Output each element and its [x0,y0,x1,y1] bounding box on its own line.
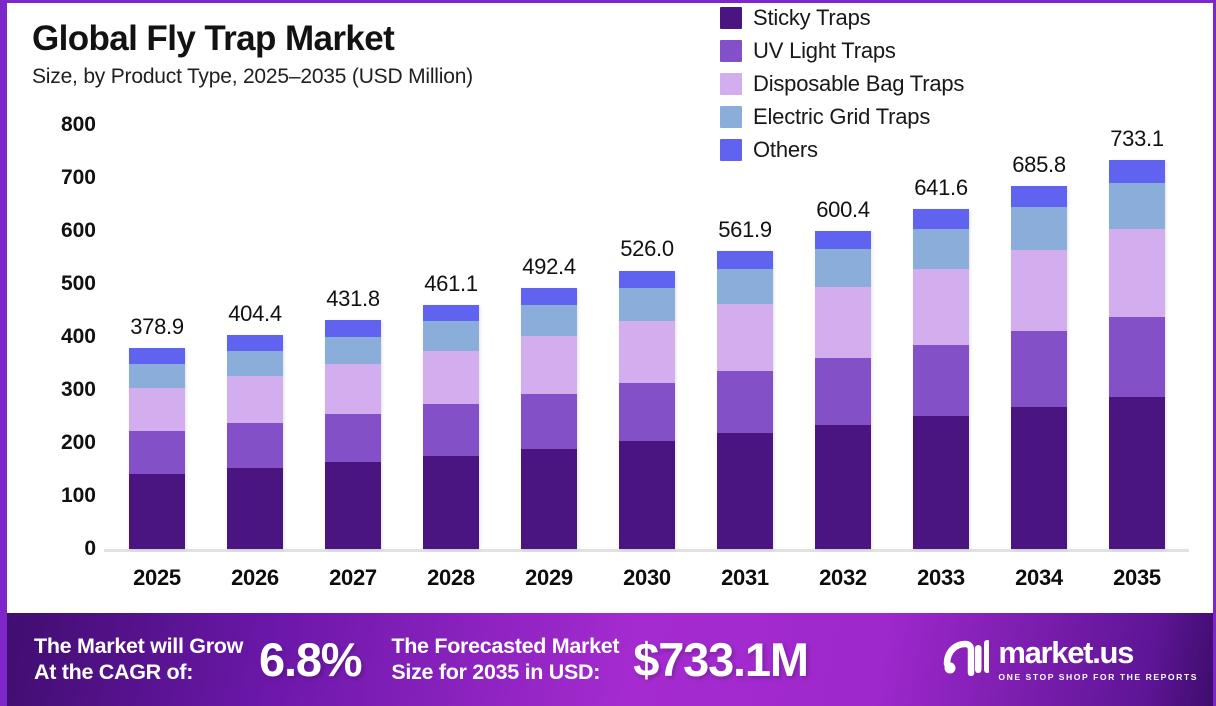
bar-segment[interactable] [129,474,185,549]
bar-segment[interactable] [423,305,479,322]
legend-item[interactable]: UV Light Traps [720,38,964,64]
bar-segment[interactable] [227,335,283,351]
cagr-label-line2: At the CAGR of: [34,660,243,685]
stacked-bar[interactable] [913,209,969,549]
bar-group[interactable]: 431.82027 [325,320,381,549]
bar-total-label: 641.6 [914,175,968,201]
logo-name: market.us [998,637,1133,668]
bar-series-container: 378.92025404.42026431.82027461.12028492.… [104,125,1202,549]
y-axis-tick-label: 100 [61,484,96,508]
bar-segment[interactable] [1011,186,1067,207]
forecast-label-line2: Size for 2035 in USD: [391,660,619,685]
bar-segment[interactable] [619,383,675,442]
forecast-value: $733.1M [633,632,808,687]
x-axis-tick-label: 2025 [133,565,181,591]
bar-group[interactable]: 600.42032 [815,231,871,549]
footer-banner-inner: The Market will Grow At the CAGR of: 6.8… [0,632,1216,687]
bar-group[interactable]: 641.62033 [913,209,969,549]
stacked-bar[interactable] [717,251,773,549]
bar-group[interactable]: 378.92025 [129,348,185,549]
bar-segment[interactable] [227,468,283,549]
y-axis-tick-label: 600 [61,219,96,243]
bar-group[interactable]: 461.12028 [423,305,479,549]
bar-segment[interactable] [325,364,381,414]
legend-swatch-icon [720,40,742,62]
bar-segment[interactable] [325,414,381,463]
bar-segment[interactable] [423,321,479,350]
legend-swatch-icon [720,7,742,29]
bar-segment[interactable] [325,462,381,549]
bar-segment[interactable] [1109,317,1165,398]
bar-segment[interactable] [423,456,479,549]
market-us-logo-text: market.us ONE STOP SHOP FOR THE REPORTS [998,637,1198,682]
bar-segment[interactable] [1109,183,1165,229]
bar-segment[interactable] [129,348,185,363]
bar-segment[interactable] [717,269,773,305]
bar-group[interactable]: 685.82034 [1011,186,1067,549]
logo-tagline: ONE STOP SHOP FOR THE REPORTS [998,672,1198,682]
bar-segment[interactable] [521,449,577,549]
bar-group[interactable]: 492.42029 [521,288,577,549]
stacked-bar[interactable] [1109,160,1165,549]
x-axis-tick-label: 2027 [329,565,377,591]
bar-segment[interactable] [1109,397,1165,549]
bar-group[interactable]: 526.02030 [619,271,675,549]
bar-segment[interactable] [129,364,185,388]
page-title: Global Fly Trap Market [32,21,473,58]
bar-segment[interactable] [913,269,969,345]
bar-segment[interactable] [227,376,283,422]
y-axis-tick-label: 200 [61,431,96,455]
infographic-page: Global Fly Trap Market Size, by Product … [0,0,1216,706]
x-axis-tick-label: 2031 [721,565,769,591]
bar-segment[interactable] [1011,331,1067,407]
legend-item[interactable]: Disposable Bag Traps [720,71,964,97]
chart-subtitle: Size, by Product Type, 2025–2035 (USD Mi… [32,65,473,89]
stacked-bar[interactable] [423,305,479,549]
bar-segment[interactable] [1011,407,1067,549]
x-axis-tick-label: 2029 [525,565,573,591]
stacked-bar[interactable] [619,271,675,549]
bar-total-label: 561.9 [718,217,772,243]
bar-group[interactable]: 404.42026 [227,335,283,549]
stacked-bar[interactable] [227,335,283,549]
stacked-bar[interactable] [325,320,381,549]
market-us-logo[interactable]: market.us ONE STOP SHOP FOR THE REPORTS [943,637,1198,682]
bar-total-label: 461.1 [424,271,478,297]
x-axis-tick-label: 2034 [1015,565,1063,591]
chart-plot-area: 0100200300400500600700800 378.92025404.4… [104,125,1202,549]
bar-segment[interactable] [619,441,675,549]
bar-segment[interactable] [423,351,479,405]
legend-item-label: Disposable Bag Traps [753,71,964,97]
legend-item[interactable]: Sticky Traps [720,5,964,31]
bar-total-label: 600.4 [816,197,870,223]
bar-segment[interactable] [619,288,675,321]
bar-segment[interactable] [913,416,969,549]
bar-total-label: 492.4 [522,254,576,280]
legend-item-label: Sticky Traps [753,5,870,31]
bar-segment[interactable] [619,321,675,383]
bar-segment[interactable] [913,209,969,229]
cagr-value: 6.8% [259,632,361,687]
bar-segment[interactable] [1011,207,1067,250]
y-axis-tick-label: 300 [61,378,96,402]
bar-segment[interactable] [717,433,773,549]
bar-segment[interactable] [325,337,381,364]
bar-segment[interactable] [129,388,185,431]
bar-segment[interactable] [129,431,185,474]
bar-segment[interactable] [913,229,969,270]
bar-segment[interactable] [717,371,773,434]
x-axis-tick-label: 2030 [623,565,671,591]
bar-total-label: 733.1 [1110,126,1164,152]
bar-total-label: 431.8 [326,286,380,312]
forecast-label-line1: The Forecasted Market [391,634,619,659]
bar-segment[interactable] [227,351,283,377]
forecast-label: The Forecasted Market Size for 2035 in U… [391,634,619,685]
cagr-label-line1: The Market will Grow [34,634,243,659]
x-axis-tick-label: 2032 [819,565,867,591]
x-axis-tick-label: 2028 [427,565,475,591]
x-axis-tick-label: 2033 [917,565,965,591]
cagr-label: The Market will Grow At the CAGR of: [34,634,243,685]
stacked-bar[interactable] [1011,186,1067,549]
stacked-bar[interactable] [129,348,185,549]
x-axis-tick-label: 2035 [1113,565,1161,591]
chart-header: Global Fly Trap Market Size, by Product … [32,21,473,89]
bar-segment[interactable] [1011,250,1067,332]
bar-total-label: 685.8 [1012,152,1066,178]
bar-group[interactable]: 733.12035 [1109,160,1165,549]
bar-segment[interactable] [1109,229,1165,316]
y-axis-tick-label: 500 [61,272,96,296]
bar-segment[interactable] [521,394,577,449]
y-axis-tick-label: 700 [61,166,96,190]
bar-segment[interactable] [619,271,675,288]
bar-segment[interactable] [1109,160,1165,182]
bar-total-label: 526.0 [620,236,674,262]
bar-segment[interactable] [815,358,871,425]
bar-segment[interactable] [815,231,871,249]
legend-swatch-icon [720,73,742,95]
bar-segment[interactable] [521,305,577,336]
bar-segment[interactable] [815,249,871,287]
footer-banner: The Market will Grow At the CAGR of: 6.8… [0,613,1216,706]
bar-segment[interactable] [815,287,871,358]
stacked-bar[interactable] [815,231,871,549]
x-axis-line [104,549,1189,552]
y-axis-tick-label: 400 [61,325,96,349]
bar-segment[interactable] [815,425,871,549]
bar-segment[interactable] [423,404,479,456]
legend-item-label: UV Light Traps [753,38,896,64]
market-us-logo-icon [943,638,989,681]
y-axis-tick-label: 0 [84,537,96,561]
x-axis-tick-label: 2026 [231,565,279,591]
bar-segment[interactable] [325,320,381,336]
bar-segment[interactable] [717,251,773,269]
bar-total-label: 378.9 [130,314,184,340]
stacked-bar[interactable] [521,288,577,549]
bar-segment[interactable] [521,336,577,394]
bar-total-label: 404.4 [228,301,282,327]
y-axis-tick-label: 800 [61,113,96,137]
bar-segment[interactable] [913,345,969,416]
bar-segment[interactable] [521,288,577,305]
bar-segment[interactable] [227,423,283,469]
bar-group[interactable]: 561.92031 [717,251,773,549]
bar-segment[interactable] [717,304,773,370]
